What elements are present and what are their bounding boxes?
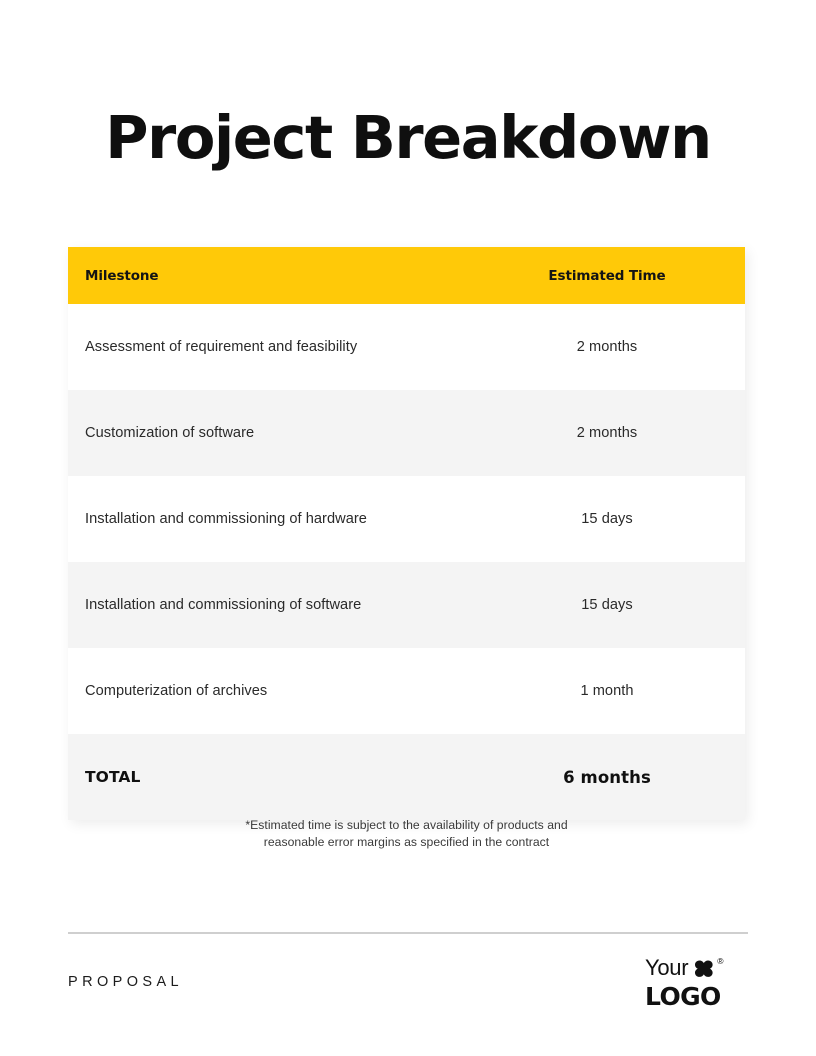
cell-estimated-time: 2 months (505, 425, 745, 441)
cell-milestone: Computerization of archives (68, 683, 505, 699)
footnote-line-1: *Estimated time is subject to the availa… (68, 817, 745, 834)
table-header-row: Milestone Estimated Time (68, 247, 745, 304)
project-breakdown-table: Milestone Estimated Time Assessment of r… (68, 247, 745, 820)
logo-top-line: Your ® (645, 958, 749, 983)
brand-logo: Your ® LOGO (645, 958, 749, 1008)
quatrefoil-icon (694, 960, 715, 983)
cell-milestone: Installation and commissioning of softwa… (68, 597, 505, 613)
column-header-milestone: Milestone (68, 268, 505, 284)
table-row: Customization of software 2 months (68, 390, 745, 476)
table-row: Assessment of requirement and feasibilit… (68, 304, 745, 390)
cell-estimated-time: 15 days (505, 597, 745, 613)
table-row: Installation and commissioning of softwa… (68, 562, 745, 648)
table-row: Computerization of archives 1 month (68, 648, 745, 734)
cell-estimated-time: 15 days (505, 511, 745, 527)
table-row: Installation and commissioning of hardwa… (68, 476, 745, 562)
footnote: *Estimated time is subject to the availa… (68, 817, 745, 852)
cell-milestone: Customization of software (68, 425, 505, 441)
page-title: Project Breakdown (68, 108, 748, 167)
logo-your-text: Your (645, 958, 688, 979)
total-value: 6 months (505, 768, 745, 787)
column-header-estimated-time: Estimated Time (505, 268, 745, 284)
logo-bottom-text: LOGO (645, 984, 749, 1009)
total-label: TOTAL (68, 768, 505, 786)
cell-milestone: Installation and commissioning of hardwa… (68, 511, 505, 527)
proposal-page: Project Breakdown Milestone Estimated Ti… (0, 0, 816, 1056)
cell-estimated-time: 2 months (505, 339, 745, 355)
table-total-row: TOTAL 6 months (68, 734, 745, 820)
footer-divider (68, 932, 748, 934)
footer-document-type: PROPOSAL (68, 974, 183, 990)
registered-trademark-icon: ® (717, 957, 723, 966)
cell-estimated-time: 1 month (505, 683, 745, 699)
cell-milestone: Assessment of requirement and feasibilit… (68, 339, 505, 355)
footnote-line-2: reasonable error margins as specified in… (68, 834, 745, 851)
